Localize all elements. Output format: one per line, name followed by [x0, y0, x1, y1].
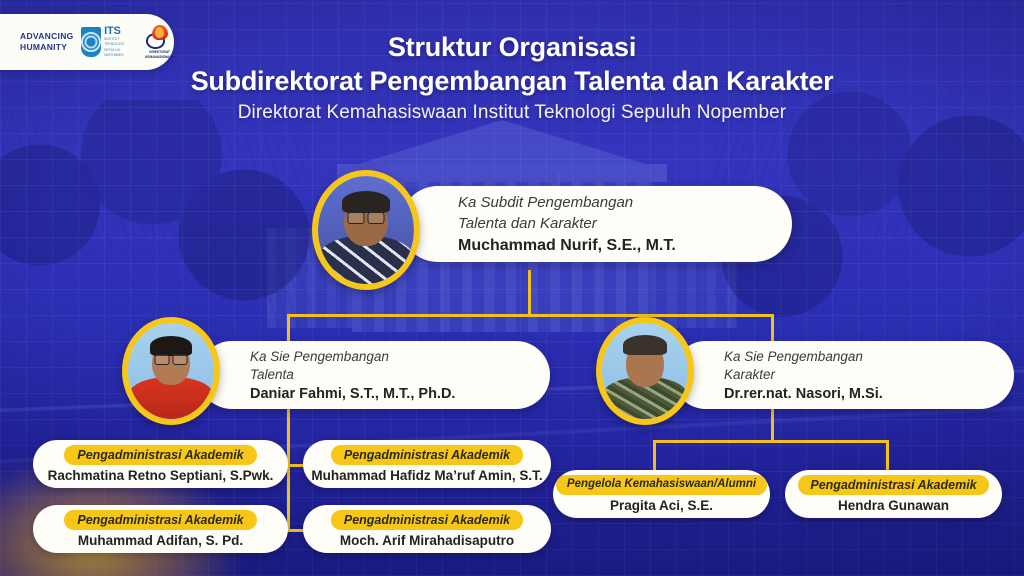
title-line-1: Struktur Organisasi: [0, 32, 1024, 64]
subtitle: Direktorat Kemahasiswaan Institut Teknol…: [0, 102, 1024, 124]
connector-head-down: [528, 270, 531, 316]
title-line-2: Subdirektorat Pengembangan Talenta dan K…: [0, 65, 1024, 97]
staff-pill-adifan[interactable]: Pengadministrasi Akademik Muhammad Adifa…: [33, 505, 288, 553]
role-line-2: Talenta: [250, 366, 532, 384]
staff-name: Hendra Gunawan: [838, 498, 949, 513]
staff-pill-pragita[interactable]: Pengelola Kemahasiswaan/Alumni Pragita A…: [553, 470, 770, 518]
staff-role-tag: Pengadministrasi Akademik: [798, 475, 988, 496]
card-ka-sie-karakter[interactable]: Ka Sie Pengembangan Karakter Dr.rer.nat.…: [596, 341, 1014, 409]
connector-right-to-pragita: [653, 440, 656, 474]
role-line-1: Ka Sie Pengembangan: [250, 348, 532, 366]
avatar-muchammad-nurif: [312, 170, 420, 290]
staff-name: Muhammad Adifan, S. Pd.: [78, 533, 243, 548]
staff-role-tag: Pengelola Kemahasiswaan/Alumni: [556, 475, 767, 495]
person-name: Daniar Fahmi, S.T., M.T., Ph.D.: [250, 386, 532, 402]
staff-role-tag: Pengadministrasi Akademik: [64, 445, 256, 466]
staff-name: Moch. Arif Mirahadisaputro: [340, 533, 514, 548]
organization-chart-poster: ADVANCING HUMANITY ITS INSTITUT TEKNOLOG…: [0, 0, 1024, 576]
staff-pill-rachmatina[interactable]: Pengadministrasi Akademik Rachmatina Ret…: [33, 440, 288, 488]
card-ka-subdit[interactable]: Ka Subdit Pengembangan Talenta dan Karak…: [312, 186, 792, 262]
staff-role-tag: Pengadministrasi Akademik: [331, 510, 523, 531]
avatar-nasori: [596, 317, 694, 425]
connector-left-spine: [287, 408, 290, 532]
role-line-2: Karakter: [724, 366, 996, 384]
connector-right-spine: [771, 408, 774, 442]
avatar-daniar-fahmi: [122, 317, 220, 425]
staff-pill-arif[interactable]: Pengadministrasi Akademik Moch. Arif Mir…: [303, 505, 551, 553]
staff-name: Muhammad Hafidz Ma’ruf Amin, S.T.: [311, 468, 542, 483]
staff-name: Rachmatina Retno Septiani, S.Pwk.: [48, 468, 274, 483]
connector-right-bar: [653, 440, 889, 443]
staff-name: Pragita Aci, S.E.: [610, 498, 713, 513]
role-line-2: Talenta dan Karakter: [458, 214, 770, 234]
card-ka-sie-talenta[interactable]: Ka Sie Pengembangan Talenta Daniar Fahmi…: [122, 341, 550, 409]
person-name: Muchammad Nurif, S.E., M.T.: [458, 237, 770, 255]
page-title: Struktur Organisasi Subdirektorat Pengem…: [0, 32, 1024, 124]
connector-level2-bar: [287, 314, 773, 317]
role-line-1: Ka Sie Pengembangan: [724, 348, 996, 366]
person-name: Dr.rer.nat. Nasori, M.Si.: [724, 386, 996, 402]
staff-role-tag: Pengadministrasi Akademik: [331, 445, 523, 466]
connector-right-to-hendra: [886, 440, 889, 474]
staff-pill-hafidz[interactable]: Pengadministrasi Akademik Muhammad Hafid…: [303, 440, 551, 488]
role-line-1: Ka Subdit Pengembangan: [458, 193, 770, 213]
staff-role-tag: Pengadministrasi Akademik: [64, 510, 256, 531]
staff-pill-hendra[interactable]: Pengadministrasi Akademik Hendra Gunawan: [785, 470, 1002, 518]
